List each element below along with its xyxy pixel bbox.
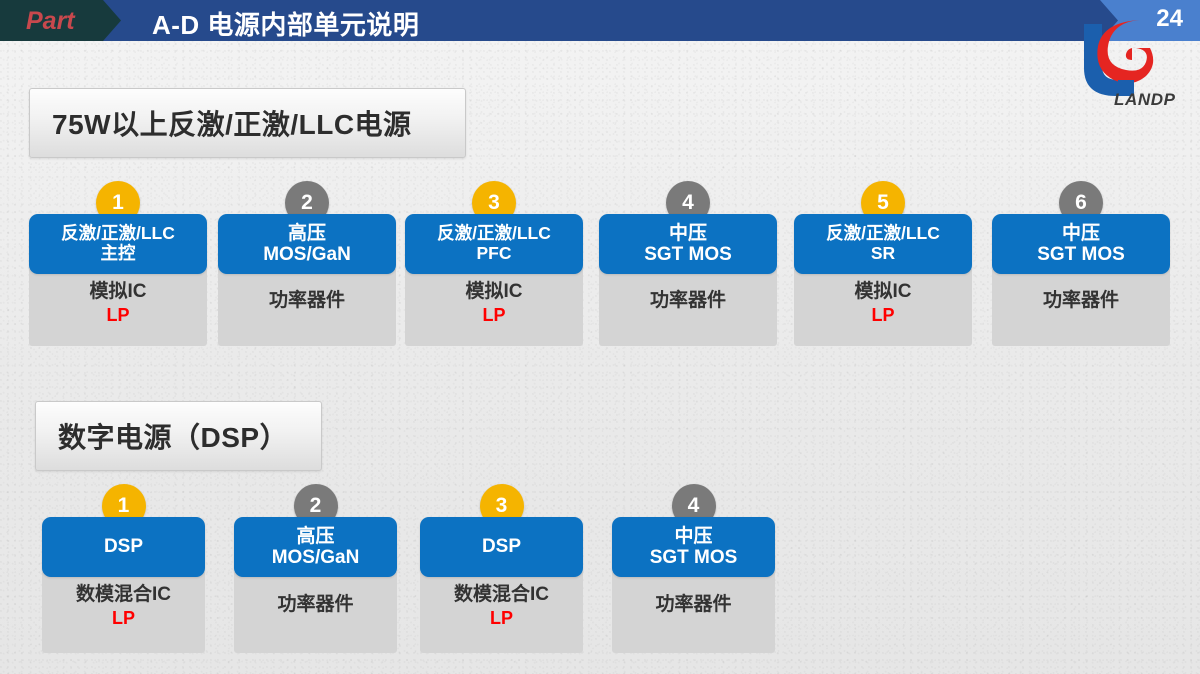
card-1-3-category: 模拟IC [465, 280, 522, 304]
card-1-4-header-line2: SGT MOS [644, 244, 732, 265]
section-plate-2: 数字电源（DSP） [35, 401, 322, 471]
card-2-3-header-line1: DSP [482, 536, 521, 557]
slide-canvas: Part A-D 电源内部单元说明 24 LANDP 75W以上反激/正激/LL… [0, 0, 1200, 674]
section-plate-1-label: 75W以上反激/正激/LLC电源 [30, 103, 412, 143]
card-1-5-category: 模拟IC [854, 280, 911, 304]
card-1-1-header-line2: 主控 [101, 244, 136, 264]
card-1-2-header-line1: 高压 [288, 223, 326, 244]
slide-header: Part A-D 电源内部单元说明 24 [0, 0, 1200, 41]
card-2-2-body: 功率器件 [234, 572, 397, 653]
card-2-4-header-line1: 中压 [674, 526, 712, 547]
card-1-1-category: 模拟IC [89, 280, 146, 304]
card-1-5-tag: LP [871, 305, 894, 327]
card-1-5-header-line1: 反激/正激/LLC [826, 224, 940, 244]
card-2-1-header: DSP [42, 517, 205, 577]
card-1-1-header-line1: 反激/正激/LLC [61, 224, 175, 244]
card-1-2-header-line2: MOS/GaN [263, 244, 351, 265]
card-2-1-header-line1: DSP [104, 536, 143, 557]
card-1-4-header: 中压 SGT MOS [599, 214, 777, 274]
card-1-6-header-line1: 中压 [1062, 223, 1100, 244]
card-2-1-category: 数模混合IC [76, 583, 171, 607]
logo-wordmark: LANDP [1114, 90, 1176, 110]
card-1-6-header-line2: SGT MOS [1037, 244, 1125, 265]
page-number-badge: 24 [1156, 5, 1183, 33]
card-1-1-body: 模拟IC LP [29, 269, 207, 346]
card-2-3-category: 数模混合IC [454, 583, 549, 607]
card-1-6-header: 中压 SGT MOS [992, 214, 1170, 274]
card-1-3-header: 反激/正激/LLC PFC [405, 214, 583, 274]
card-1-2-header: 高压 MOS/GaN [218, 214, 396, 274]
card-1-4-body: 功率器件 [599, 269, 777, 346]
card-2-4-category: 功率器件 [655, 593, 731, 617]
card-1-3-header-line2: PFC [477, 244, 512, 264]
card-2-2-category: 功率器件 [277, 593, 353, 617]
card-1-4-category: 功率器件 [650, 289, 726, 313]
card-1-5-header-line2: SR [871, 244, 895, 264]
page-title: A-D 电源内部单元说明 [152, 5, 419, 41]
card-2-4-header-line2: SGT MOS [650, 547, 738, 568]
card-2-3-body: 数模混合IC LP [420, 572, 583, 653]
card-2-3-header: DSP [420, 517, 583, 577]
card-1-1-tag: LP [106, 305, 129, 327]
card-2-4-header: 中压 SGT MOS [612, 517, 775, 577]
card-1-6-category: 功率器件 [1043, 289, 1119, 313]
card-1-1-header: 反激/正激/LLC 主控 [29, 214, 207, 274]
card-2-2-header-line2: MOS/GaN [272, 547, 360, 568]
card-1-5-body: 模拟IC LP [794, 269, 972, 346]
card-2-2-header: 高压 MOS/GaN [234, 517, 397, 577]
card-1-4-header-line1: 中压 [669, 223, 707, 244]
header-part-label: Part [26, 7, 75, 36]
card-2-4-body: 功率器件 [612, 572, 775, 653]
card-2-1-tag: LP [112, 608, 135, 630]
card-1-3-header-line1: 反激/正激/LLC [437, 224, 551, 244]
card-1-2-body: 功率器件 [218, 269, 396, 346]
card-2-3-tag: LP [490, 608, 513, 630]
card-1-6-body: 功率器件 [992, 269, 1170, 346]
section-plate-2-label: 数字电源（DSP） [36, 416, 288, 456]
card-2-2-header-line1: 高压 [296, 526, 334, 547]
card-1-3-tag: LP [482, 305, 505, 327]
card-2-1-body: 数模混合IC LP [42, 572, 205, 653]
section-plate-1: 75W以上反激/正激/LLC电源 [29, 88, 466, 158]
card-1-2-category: 功率器件 [269, 289, 345, 313]
card-1-3-body: 模拟IC LP [405, 269, 583, 346]
card-1-5-header: 反激/正激/LLC SR [794, 214, 972, 274]
